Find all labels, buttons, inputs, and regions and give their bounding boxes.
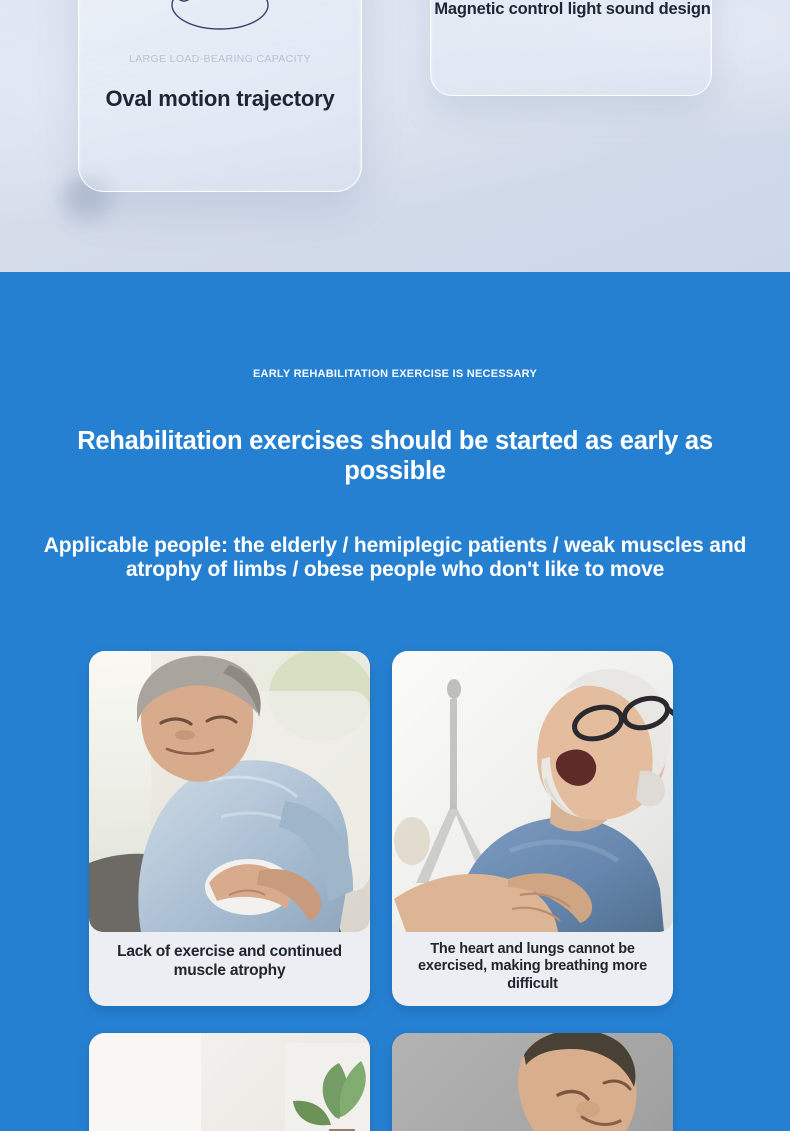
info-card-grid: Lack of exercise and continued muscle at… xyxy=(89,651,673,1131)
applicable-people-text: Applicable people: the elderly / hemiple… xyxy=(18,534,772,583)
info-card-heart-lungs[interactable]: The heart and lungs cannot be exercised,… xyxy=(392,651,673,1006)
card-row: Lack of exercise and continued muscle at… xyxy=(89,651,673,1006)
photo-older-woman-back-pain xyxy=(89,1033,370,1131)
oval-trajectory-icon xyxy=(164,0,276,33)
photo-overweight-man-gray-sweater xyxy=(392,1033,673,1131)
feature-left-eyebrow: LARGE LOAD-BEARING CAPACITY xyxy=(79,53,361,65)
info-card-back-pain[interactable] xyxy=(89,1033,370,1131)
info-card-obesity[interactable] xyxy=(392,1033,673,1131)
photo-older-man-chest-pain xyxy=(392,651,673,932)
feature-left-title: Oval motion trajectory xyxy=(79,86,361,112)
section-eyebrow: EARLY REHABILITATION EXERCISE IS NECESSA… xyxy=(0,368,790,380)
feature-right-title: Magnetic control light sound design xyxy=(400,0,745,19)
section-headline: Rehabilitation exercises should be start… xyxy=(55,427,735,487)
card-row xyxy=(89,1033,673,1131)
card-caption: The heart and lungs cannot be exercised,… xyxy=(392,932,673,1006)
feature-card-oval-trajectory: LARGE LOAD-BEARING CAPACITY Oval motion … xyxy=(78,0,362,192)
rehabilitation-blue-section: EARLY REHABILITATION EXERCISE IS NECESSA… xyxy=(0,272,790,1131)
top-feature-section: LARGE LOAD-BEARING CAPACITY Oval motion … xyxy=(0,0,790,272)
card-caption: Lack of exercise and continued muscle at… xyxy=(89,932,370,994)
info-card-muscle-atrophy[interactable]: Lack of exercise and continued muscle at… xyxy=(89,651,370,1006)
photo-older-man-knee-pain xyxy=(89,651,370,932)
